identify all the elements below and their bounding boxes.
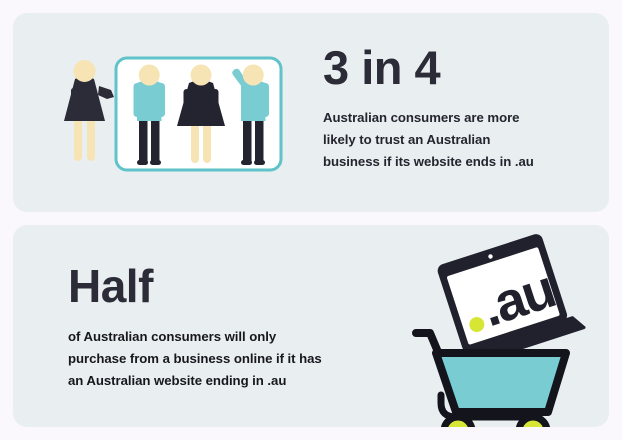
woman-outside-leg-left [74, 118, 82, 161]
infographic-root: 3 in 4 Australian consumers are more lik… [0, 0, 622, 440]
cart-svg: .au [408, 235, 598, 420]
man-right-head [243, 65, 264, 86]
purchase-card-text: Half of Australian consumers will only p… [68, 262, 388, 392]
laptop: .au [424, 229, 584, 369]
trust-card-layout: 3 in 4 Australian consumers are more lik… [13, 13, 609, 212]
cart-handle [416, 333, 438, 352]
woman-center-arm-left [184, 89, 190, 111]
purchase-card-layout: Half of Australian consumers will only p… [13, 225, 609, 427]
purchase-stat-card: Half of Australian consumers will only p… [13, 225, 609, 427]
woman-center-leg-right [203, 123, 211, 163]
woman-center-arm-right [213, 89, 219, 111]
trust-headline: 3 in 4 [323, 43, 591, 92]
man-left-foot-left [137, 160, 148, 165]
cart-basket [436, 353, 566, 412]
man-left-arm-right [158, 83, 165, 117]
man-right-leg-right [255, 119, 264, 163]
woman-center-head [191, 65, 212, 86]
trust-body-line-1: Australian consumers are more [323, 107, 591, 129]
trust-body-line-3: business if its website ends in .au [323, 151, 591, 173]
purchase-headline: Half [68, 262, 388, 310]
man-left-leg-right [151, 119, 160, 163]
woman-outside-head [74, 60, 96, 82]
cart-wheel-right [519, 417, 547, 427]
man-left-shirt [137, 81, 162, 122]
man-left-leg-left [139, 119, 148, 163]
trust-body: Australian consumers are more likely to … [323, 107, 591, 173]
man-left-arm-left [134, 83, 141, 117]
man-left-foot-right [150, 160, 161, 165]
purchase-body-line-2: purchase from a business online if it ha… [68, 348, 388, 370]
woman-outside-leg-right [87, 118, 95, 161]
people-svg [13, 13, 318, 212]
woman-center-leg-left [191, 123, 199, 163]
man-right-leg-left [243, 119, 252, 163]
four-people-three-highlighted-illustration [13, 13, 318, 212]
trust-body-line-2: likely to trust an Australian [323, 129, 591, 151]
cart-wheel-left [444, 417, 472, 427]
woman-outside-arm-extended [98, 86, 114, 99]
purchase-body-line-1: of Australian consumers will only [68, 326, 388, 348]
woman-outside-dress [64, 77, 105, 122]
trust-stat-card: 3 in 4 Australian consumers are more lik… [13, 13, 609, 212]
shopping-cart-with-au-laptop-illustration: .au [408, 235, 598, 420]
man-left-head [139, 65, 160, 86]
purchase-body-line-3: an Australian website ending in .au [68, 370, 388, 392]
man-right-foot-right [254, 160, 265, 165]
purchase-body: of Australian consumers will only purcha… [68, 326, 388, 392]
trust-card-text: 3 in 4 Australian consumers are more lik… [323, 43, 591, 173]
woman-outside-arm-left [71, 88, 76, 106]
man-right-foot-left [241, 160, 252, 165]
man-right-shirt [241, 81, 266, 122]
figure-woman-outside-box [64, 60, 114, 161]
man-right-arm-right [262, 83, 269, 117]
